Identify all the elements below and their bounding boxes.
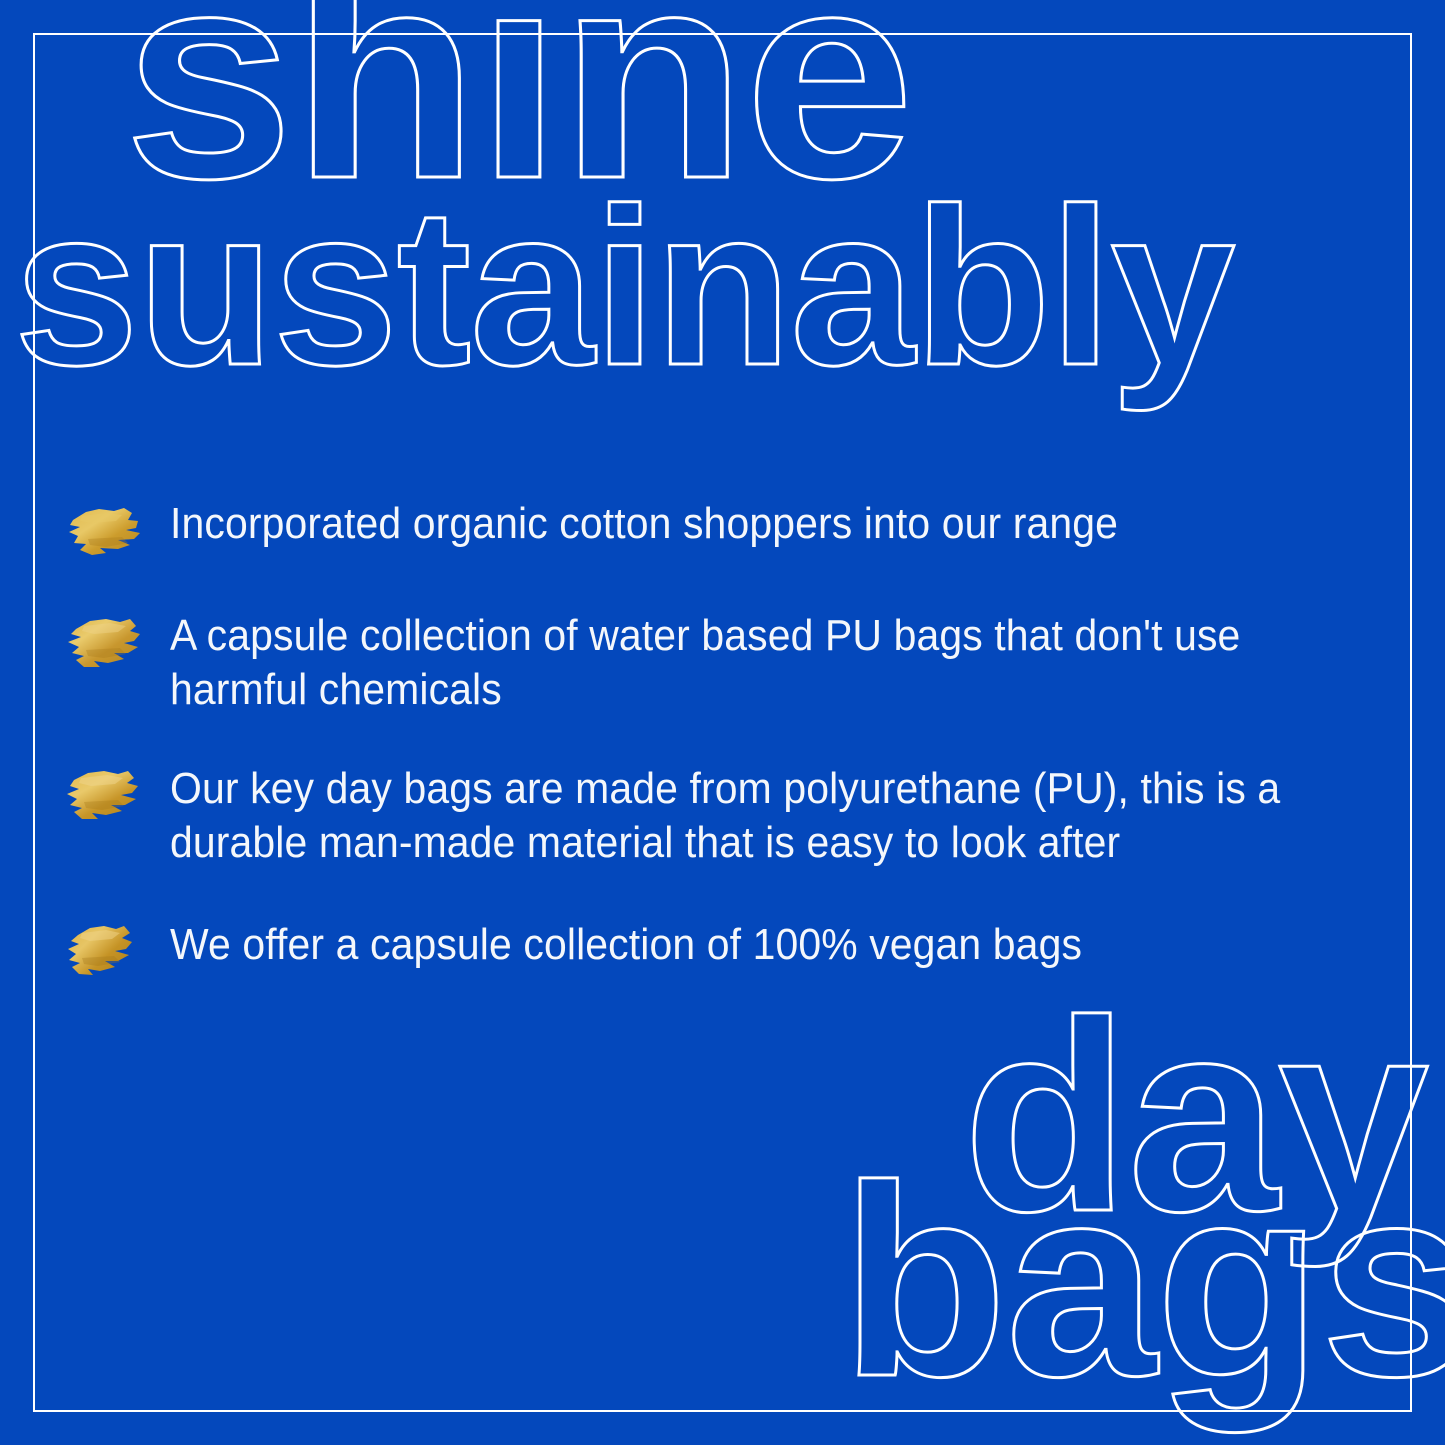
gold-brush-stroke-icon: [66, 615, 148, 671]
list-item: Our key day bags are made from polyureth…: [66, 762, 1386, 869]
footer-line-2: bags: [841, 1175, 1445, 1387]
gold-brush-stroke-icon: [66, 924, 148, 980]
headline-line-2: sustainably: [14, 200, 1234, 375]
list-item-label: A capsule collection of water based PU b…: [170, 609, 1301, 716]
list-item-label: We offer a capsule collection of 100% ve…: [170, 918, 1301, 972]
sustainability-bullet-list: Incorporated organic cotton shoppers int…: [66, 497, 1386, 980]
gold-brush-stroke-icon: [66, 503, 148, 559]
list-item: A capsule collection of water based PU b…: [66, 609, 1386, 716]
list-item-label: Incorporated organic cotton shoppers int…: [170, 497, 1301, 551]
sustainability-poster: shine sustainably: [0, 0, 1445, 1445]
list-item: We offer a capsule collection of 100% ve…: [66, 918, 1386, 980]
list-item-label: Our key day bags are made from polyureth…: [170, 762, 1301, 869]
gold-brush-stroke-icon: [66, 768, 148, 824]
list-item: Incorporated organic cotton shoppers int…: [66, 497, 1386, 559]
